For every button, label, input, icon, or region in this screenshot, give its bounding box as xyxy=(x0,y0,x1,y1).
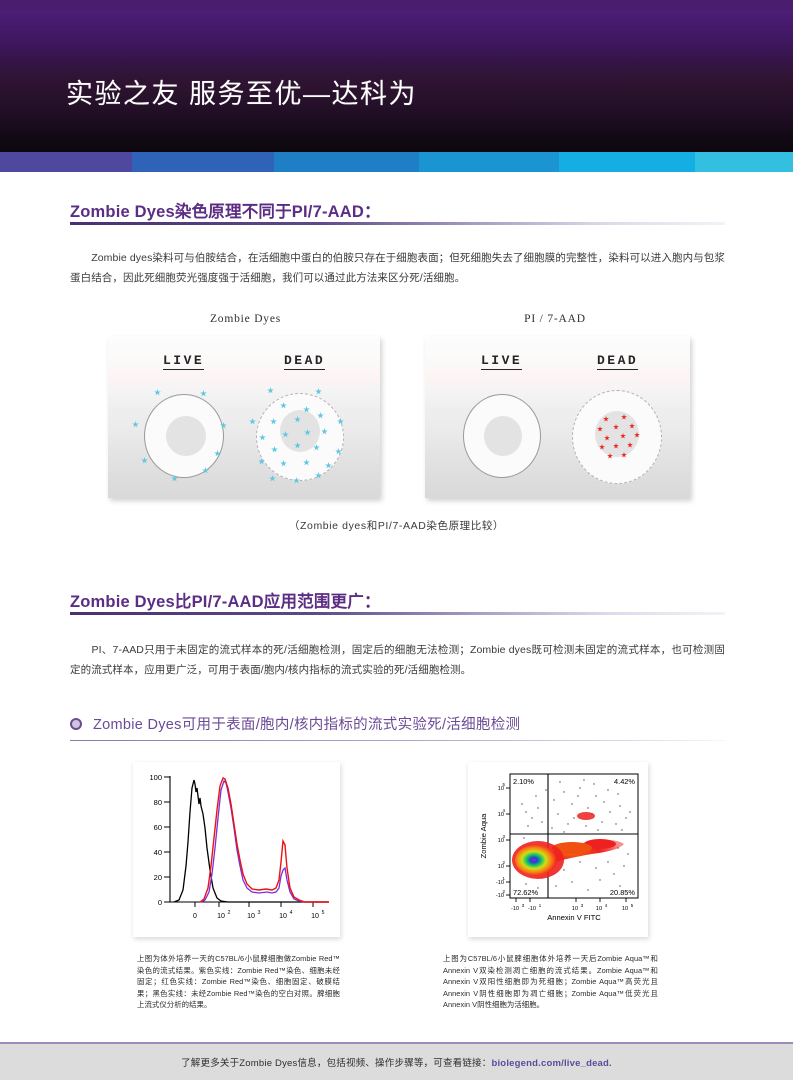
quadrant-ll-value: 72.62% xyxy=(513,888,538,897)
svg-text:10: 10 xyxy=(596,906,602,912)
histogram-svg: 0 20 40 60 80 100 0 102 103 104 105 xyxy=(133,762,340,937)
section1-heading-rule xyxy=(70,222,725,225)
svg-text:10: 10 xyxy=(572,906,578,912)
footer-text-row: 了解更多关于Zombie Dyes信息，包括视频、操作步骤等，可查看链接：bio… xyxy=(0,1055,793,1069)
svg-text:2: 2 xyxy=(503,889,506,894)
section1-paragraph: Zombie dyes染料可与伯胺结合，在活细胞中蛋白的伯胺只存在于细胞表面；但… xyxy=(70,248,725,288)
dye-star xyxy=(267,387,274,394)
quadrant-ul-value: 2.10% xyxy=(513,777,534,786)
svg-text:0: 0 xyxy=(193,913,197,920)
svg-text:10: 10 xyxy=(311,913,319,920)
quadrant-lr-value: 20.85% xyxy=(610,888,635,897)
svg-text:-10: -10 xyxy=(528,906,536,912)
dye-star xyxy=(269,475,276,482)
svg-text:3: 3 xyxy=(581,903,584,908)
dotplot-caption: 上图为C57BL/6小鼠脾细胞体外培养一天后Zombie Aqua™和Annex… xyxy=(443,953,658,1011)
section2-heading: Zombie Dyes比PI/7-AAD应用范围更广： xyxy=(70,588,381,612)
dye-star xyxy=(141,457,148,464)
page-header: 实验之友 服务至优—达科为 xyxy=(0,0,793,152)
histogram-caption: 上图为体外培养一天的C57BL/6小鼠脾细胞做Zombie Red™染色的流式结… xyxy=(137,953,340,1011)
dotplot-panel: 2.10% 4.42% 72.62% 20.85% 105 104 103 10… xyxy=(468,762,648,937)
svg-text:2: 2 xyxy=(228,910,231,916)
svg-text:10: 10 xyxy=(247,913,255,920)
section2-heading-rule xyxy=(70,612,725,615)
svg-text:2: 2 xyxy=(503,860,506,865)
figure1-caption: （Zombie dyes和PI/7-AAD染色原理比较） xyxy=(0,518,793,533)
section2-bullet-label: Zombie Dyes可用于表面/胞内/核内指标的流式实验死/活细胞检测 xyxy=(93,713,520,734)
svg-text:1: 1 xyxy=(503,876,506,881)
svg-text:4: 4 xyxy=(290,910,293,916)
quadrant-ur-value: 4.42% xyxy=(614,777,635,786)
svg-text:4: 4 xyxy=(605,903,608,908)
svg-text:20: 20 xyxy=(154,873,162,882)
colorbar-segment-3 xyxy=(274,152,419,172)
dye-star xyxy=(249,418,256,425)
dotplot-svg: 2.10% 4.42% 72.62% 20.85% 105 104 103 10… xyxy=(468,762,648,937)
colorbar-segment-6 xyxy=(695,152,793,172)
svg-text:80: 80 xyxy=(154,798,162,807)
page-footer: 了解更多关于Zombie Dyes信息，包括视频、操作步骤等，可查看链接：bio… xyxy=(0,1042,793,1080)
dye-star xyxy=(132,421,139,428)
section2-bullet-row: Zombie Dyes可用于表面/胞内/核内指标的流式实验死/活细胞检测 xyxy=(70,713,520,734)
header-colorbar xyxy=(0,152,793,172)
dye-star xyxy=(200,390,207,397)
dead-cell-nucleus-left xyxy=(280,410,320,452)
section1-heading: Zombie Dyes染色原理不同于PI/7-AAD： xyxy=(70,198,381,222)
svg-text:10: 10 xyxy=(217,913,225,920)
svg-text:-10: -10 xyxy=(511,906,519,912)
pi-7aad-diagram: LIVE DEAD xyxy=(425,336,690,498)
svg-text:5: 5 xyxy=(631,903,634,908)
svg-text:0: 0 xyxy=(158,898,162,907)
footer-message: 了解更多关于Zombie Dyes信息，包括视频、操作步骤等，可查看链接： xyxy=(181,1058,491,1069)
svg-text:4: 4 xyxy=(503,808,506,813)
dead-cell-nucleus-right xyxy=(595,411,639,457)
zombie-dyes-diagram: LIVE DEAD xyxy=(108,336,380,498)
dye-star xyxy=(315,388,322,395)
svg-text:1: 1 xyxy=(539,903,542,908)
colorbar-segment-2 xyxy=(132,152,274,172)
section2-paragraph: PI、7-AAD只用于未固定的流式样本的死/活细胞检测，固定后的细胞无法检测；Z… xyxy=(70,640,725,680)
svg-text:3: 3 xyxy=(522,903,525,908)
live-label-right: LIVE xyxy=(481,353,522,370)
live-label-left: LIVE xyxy=(163,353,204,370)
svg-text:3: 3 xyxy=(503,834,506,839)
svg-text:10: 10 xyxy=(279,913,287,920)
dead-label-left: DEAD xyxy=(284,353,325,370)
dotplot-ylabel: Zombie Aqua xyxy=(479,813,488,859)
colorbar-segment-4 xyxy=(419,152,559,172)
biolegend-link[interactable]: biolegend.com/live_dead. xyxy=(491,1058,611,1069)
colorbar-segment-5 xyxy=(559,152,695,172)
colorbar-segment-1 xyxy=(0,152,132,172)
svg-text:100: 100 xyxy=(149,773,162,782)
figure1-right-title: PI / 7-AAD xyxy=(420,313,690,325)
svg-text:10: 10 xyxy=(622,906,628,912)
svg-text:5: 5 xyxy=(503,782,506,787)
figure1-left-title: Zombie Dyes xyxy=(108,313,383,325)
bullet-dot-icon xyxy=(70,718,82,730)
svg-text:3: 3 xyxy=(258,910,261,916)
dye-star xyxy=(154,389,161,396)
section2-bullet-rule xyxy=(70,740,725,741)
live-cell-nucleus-right xyxy=(484,416,522,456)
live-cell-nucleus-left xyxy=(166,416,206,456)
svg-text:5: 5 xyxy=(322,910,325,916)
dead-label-right: DEAD xyxy=(597,353,638,370)
page-title: 实验之友 服务至优—达科为 xyxy=(66,72,417,111)
dotplot-xlabel: Annexin V FITC xyxy=(547,913,601,922)
histogram-panel: 0 20 40 60 80 100 0 102 103 104 105 xyxy=(133,762,340,937)
svg-text:60: 60 xyxy=(154,823,162,832)
svg-text:40: 40 xyxy=(154,848,162,857)
